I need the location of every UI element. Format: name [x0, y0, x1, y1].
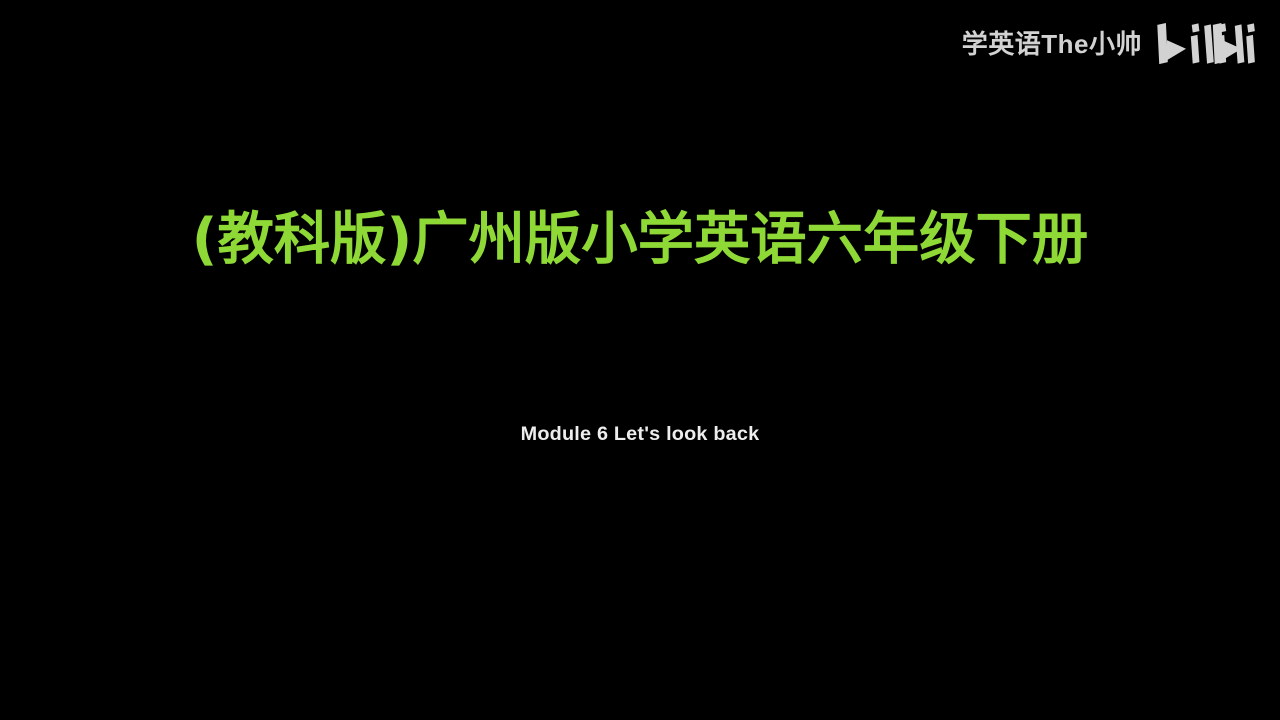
- slide-title: (教科版)广州版小学英语六年级下册: [0, 210, 1280, 270]
- channel-name-label: 学英语The小帅: [962, 31, 1142, 57]
- video-slide: 学英语The小帅: [0, 0, 1280, 720]
- slide-subtitle: Module 6 Let's look back: [0, 424, 1280, 446]
- channel-watermark: 学英语The小帅: [962, 20, 1262, 68]
- bilibili-logo-icon: [1154, 22, 1262, 66]
